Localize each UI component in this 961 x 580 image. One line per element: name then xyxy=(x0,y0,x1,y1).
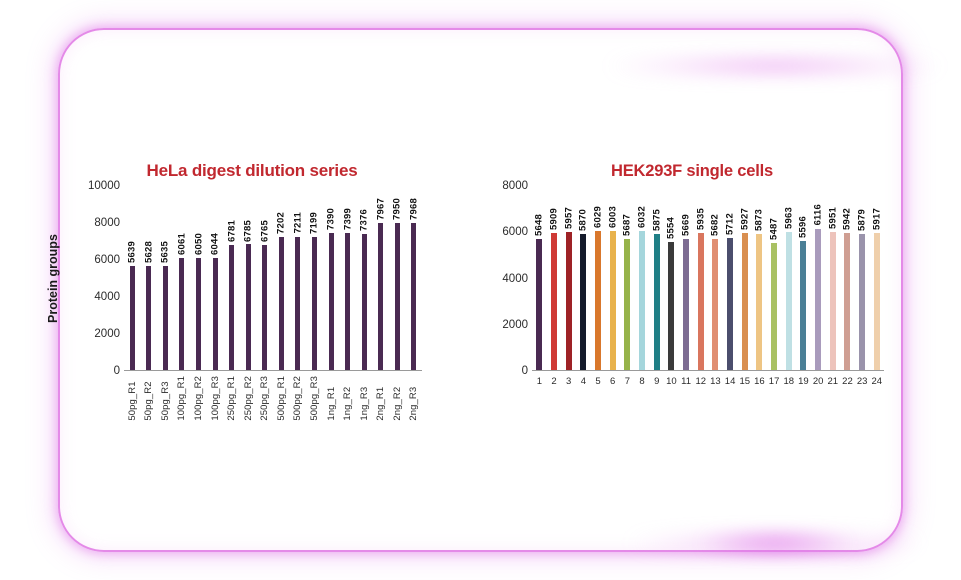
x-tick-label: 2 xyxy=(551,376,556,387)
x-label-slot: 1 xyxy=(532,376,547,387)
bar-slot[interactable]: 5951 xyxy=(825,186,840,370)
bar[interactable] xyxy=(213,258,218,370)
bar-value-label: 5879 xyxy=(857,209,868,231)
bar-value-label: 5963 xyxy=(783,207,794,229)
bar-slot[interactable]: 6116 xyxy=(811,186,826,370)
bar-slot[interactable]: 5942 xyxy=(840,186,855,370)
bar-value-label: 6061 xyxy=(176,233,187,255)
bar-value-label: 7968 xyxy=(408,198,419,220)
x-tick-label: 250pg_R1 xyxy=(226,376,237,421)
bar-value-label: 5873 xyxy=(754,209,765,231)
x-label-slot: 500pg_R3 xyxy=(306,376,323,421)
plot-area-hela: Protein groups 0200040006000800010000 56… xyxy=(52,186,452,431)
y-tick-label: 10000 xyxy=(88,180,120,192)
x-tick-label: 2ng_R3 xyxy=(408,376,419,421)
x-tick-label: 9 xyxy=(654,376,659,387)
bar-slot[interactable]: 5639 xyxy=(124,186,141,370)
x-label-slot: 250pg_R1 xyxy=(223,376,240,421)
bar[interactable] xyxy=(345,233,350,370)
bar-slot[interactable]: 6003 xyxy=(605,186,620,370)
slide-canvas: HeLa digest dilution series Protein grou… xyxy=(0,0,961,580)
bar-value-label: 5942 xyxy=(842,208,853,230)
glow-accent-top xyxy=(610,58,940,74)
bar[interactable] xyxy=(378,223,383,370)
chart-panel-hek: HEK293F single cells 02000400060008000 5… xyxy=(482,160,902,480)
bars-container-hek: 5648590959575870602960035687603258755554… xyxy=(532,186,884,371)
bar-slot[interactable]: 6765 xyxy=(257,186,274,370)
x-tick-label: 50pg_R3 xyxy=(160,376,171,421)
bar-slot[interactable]: 5669 xyxy=(679,186,694,370)
chart-title-hek: HEK293F single cells xyxy=(482,160,902,186)
x-label-slot: 16 xyxy=(752,376,767,387)
x-label-slot: 500pg_R2 xyxy=(290,376,307,421)
bar[interactable] xyxy=(742,233,748,370)
glow-accent-bottom-inner xyxy=(700,536,850,550)
bar-value-label: 5554 xyxy=(666,217,677,239)
x-tick-label: 1ng_R2 xyxy=(342,376,353,421)
x-label-slot: 5 xyxy=(591,376,606,387)
bar[interactable] xyxy=(683,239,689,370)
x-label-slot: 22 xyxy=(840,376,855,387)
x-label-slot: 19 xyxy=(796,376,811,387)
bar[interactable] xyxy=(756,234,762,370)
y-tick-label: 8000 xyxy=(94,217,120,229)
y-axis-label-hela: Protein groups xyxy=(46,234,60,323)
bar[interactable] xyxy=(130,266,135,370)
bar-value-label: 6116 xyxy=(813,204,824,225)
bar[interactable] xyxy=(295,237,300,370)
bar[interactable] xyxy=(229,245,234,370)
bar-slot[interactable]: 5628 xyxy=(141,186,158,370)
bar-slot[interactable]: 6029 xyxy=(591,186,606,370)
x-label-slot: 100pg_R3 xyxy=(207,376,224,421)
bar-slot[interactable]: 7950 xyxy=(389,186,406,370)
bar-value-label: 5909 xyxy=(549,208,560,230)
bar[interactable] xyxy=(639,231,645,370)
x-label-slot: 17 xyxy=(767,376,782,387)
y-tick-label: 2000 xyxy=(94,328,120,340)
x-tick-label: 5 xyxy=(595,376,600,387)
y-tick-label: 8000 xyxy=(502,180,528,192)
bar-value-label: 6765 xyxy=(259,220,270,242)
x-axis-labels-hek: 123456789101112131415161718192021222324 xyxy=(532,376,884,387)
bar-slot[interactable]: 5875 xyxy=(649,186,664,370)
bar-value-label: 6785 xyxy=(243,220,254,242)
bar-slot[interactable]: 7399 xyxy=(339,186,356,370)
y-axis-ticks-hek: 02000400060008000 xyxy=(486,186,532,371)
x-label-slot: 2ng_R1 xyxy=(372,376,389,421)
x-tick-label: 500pg_R1 xyxy=(276,376,287,421)
bar-value-label: 7390 xyxy=(326,208,337,230)
x-label-slot: 500pg_R1 xyxy=(273,376,290,421)
x-label-slot: 24 xyxy=(869,376,884,387)
bar-slot[interactable]: 7968 xyxy=(406,186,423,370)
x-tick-label: 250pg_R2 xyxy=(243,376,254,421)
x-tick-label: 7 xyxy=(625,376,630,387)
bar-slot[interactable]: 5957 xyxy=(561,186,576,370)
x-tick-label: 16 xyxy=(754,376,765,387)
bar[interactable] xyxy=(279,237,284,370)
x-tick-label: 50pg_R2 xyxy=(143,376,154,421)
y-tick-label: 4000 xyxy=(502,273,528,285)
bar-value-label: 5639 xyxy=(127,241,138,263)
plot-area-hek: 02000400060008000 5648590959575870602960… xyxy=(482,186,902,401)
x-label-slot: 2ng_R2 xyxy=(389,376,406,421)
y-tick-label: 6000 xyxy=(94,254,120,266)
bar-slot[interactable]: 6785 xyxy=(240,186,257,370)
y-axis-ticks-hela: 0200040006000800010000 xyxy=(78,186,124,371)
bar[interactable] xyxy=(411,223,416,370)
bar[interactable] xyxy=(362,234,367,370)
bar[interactable] xyxy=(859,234,865,370)
bar-slot[interactable]: 6044 xyxy=(207,186,224,370)
x-tick-label: 500pg_R3 xyxy=(309,376,320,421)
bar[interactable] xyxy=(712,239,718,370)
x-tick-label: 1ng_R3 xyxy=(359,376,370,421)
x-tick-label: 2ng_R2 xyxy=(392,376,403,421)
bar[interactable] xyxy=(727,238,733,370)
bar-value-label: 5712 xyxy=(725,213,736,235)
x-tick-label: 13 xyxy=(710,376,721,387)
bar[interactable] xyxy=(610,231,616,370)
bar[interactable] xyxy=(395,223,400,370)
y-tick-label: 2000 xyxy=(502,319,528,331)
x-label-slot: 7 xyxy=(620,376,635,387)
bar-value-label: 5935 xyxy=(695,208,706,230)
x-label-slot: 50pg_R1 xyxy=(124,376,141,421)
bar-value-label: 7199 xyxy=(309,212,320,234)
bar-value-label: 6044 xyxy=(210,233,221,255)
y-tick-label: 6000 xyxy=(502,226,528,238)
x-label-slot: 250pg_R2 xyxy=(240,376,257,421)
x-tick-label: 10 xyxy=(666,376,677,387)
bar-value-label: 5957 xyxy=(563,207,574,229)
x-label-slot: 2ng_R3 xyxy=(406,376,423,421)
x-label-slot: 12 xyxy=(693,376,708,387)
bar[interactable] xyxy=(312,237,317,370)
bar[interactable] xyxy=(771,243,777,370)
bar[interactable] xyxy=(595,231,601,370)
bar-value-label: 7202 xyxy=(276,212,287,234)
bar[interactable] xyxy=(146,266,151,370)
x-label-slot: 50pg_R2 xyxy=(141,376,158,421)
bar-slot[interactable]: 5909 xyxy=(547,186,562,370)
bar[interactable] xyxy=(830,232,836,370)
bar-value-label: 5487 xyxy=(769,218,780,240)
x-tick-label: 15 xyxy=(739,376,750,387)
bar[interactable] xyxy=(196,258,201,370)
bar-value-label: 7399 xyxy=(342,208,353,230)
bar[interactable] xyxy=(668,242,674,370)
x-tick-label: 100pg_R1 xyxy=(176,376,187,421)
x-label-slot: 6 xyxy=(605,376,620,387)
bar-slot[interactable]: 5487 xyxy=(767,186,782,370)
x-label-slot: 14 xyxy=(723,376,738,387)
bar-value-label: 7967 xyxy=(375,198,386,220)
bar[interactable] xyxy=(179,258,184,370)
bar[interactable] xyxy=(844,233,850,370)
bar-value-label: 7211 xyxy=(292,212,303,233)
bar-slot[interactable]: 5648 xyxy=(532,186,547,370)
x-tick-label: 24 xyxy=(872,376,883,387)
x-tick-label: 22 xyxy=(842,376,853,387)
bar-slot[interactable]: 7199 xyxy=(306,186,323,370)
bar-slot[interactable]: 6781 xyxy=(223,186,240,370)
x-tick-label: 6 xyxy=(610,376,615,387)
x-label-slot: 1ng_R2 xyxy=(339,376,356,421)
bar-value-label: 6050 xyxy=(193,233,204,255)
bar-value-label: 6032 xyxy=(637,206,648,228)
x-tick-label: 12 xyxy=(695,376,706,387)
x-tick-label: 3 xyxy=(566,376,571,387)
x-tick-label: 20 xyxy=(813,376,824,387)
bar-slot[interactable]: 5935 xyxy=(693,186,708,370)
bar-slot[interactable]: 5687 xyxy=(620,186,635,370)
x-label-slot: 100pg_R2 xyxy=(190,376,207,421)
bar-value-label: 5917 xyxy=(871,208,882,230)
x-tick-label: 11 xyxy=(681,376,691,387)
glow-accent-bottom xyxy=(630,534,920,552)
x-label-slot: 8 xyxy=(635,376,650,387)
x-label-slot: 250pg_R3 xyxy=(257,376,274,421)
x-label-slot: 1ng_R1 xyxy=(323,376,340,421)
bar-value-label: 5596 xyxy=(798,216,809,238)
bar-slot[interactable]: 5873 xyxy=(752,186,767,370)
bar[interactable] xyxy=(874,233,880,370)
x-tick-label: 1 xyxy=(537,376,542,387)
bar-value-label: 5669 xyxy=(681,214,692,236)
bar-value-label: 5927 xyxy=(739,208,750,230)
x-tick-label: 50pg_R1 xyxy=(127,376,138,421)
x-label-slot: 10 xyxy=(664,376,679,387)
bars-container-hela: 5639562856356061605060446781678567657202… xyxy=(124,186,422,371)
bar-value-label: 5635 xyxy=(160,241,171,263)
bar-value-label: 5870 xyxy=(578,209,589,231)
bar-value-label: 5648 xyxy=(534,214,545,236)
bar-value-label: 5875 xyxy=(651,209,662,231)
x-tick-label: 23 xyxy=(857,376,868,387)
bar[interactable] xyxy=(624,239,630,371)
bar[interactable] xyxy=(815,229,821,370)
chart-panel-hela: HeLa digest dilution series Protein grou… xyxy=(52,160,452,480)
bar-slot[interactable]: 7967 xyxy=(372,186,389,370)
bar-slot[interactable]: 5635 xyxy=(157,186,174,370)
bar[interactable] xyxy=(262,245,267,370)
bar-value-label: 5628 xyxy=(143,241,154,263)
bar-slot[interactable]: 5879 xyxy=(855,186,870,370)
x-tick-label: 4 xyxy=(581,376,586,387)
x-tick-label: 100pg_R2 xyxy=(193,376,204,421)
x-tick-label: 500pg_R2 xyxy=(292,376,303,421)
x-tick-label: 21 xyxy=(827,376,838,387)
bar-slot[interactable]: 7376 xyxy=(356,186,373,370)
x-label-slot: 100pg_R1 xyxy=(174,376,191,421)
bar-slot[interactable]: 5554 xyxy=(664,186,679,370)
bar-slot[interactable]: 5596 xyxy=(796,186,811,370)
bar[interactable] xyxy=(800,241,806,370)
x-tick-label: 17 xyxy=(769,376,780,387)
x-label-slot: 15 xyxy=(737,376,752,387)
x-tick-label: 8 xyxy=(639,376,644,387)
bar[interactable] xyxy=(786,232,792,370)
y-tick-label: 0 xyxy=(522,365,528,377)
bar[interactable] xyxy=(329,233,334,370)
x-tick-label: 100pg_R3 xyxy=(210,376,221,421)
x-tick-label: 14 xyxy=(725,376,736,387)
x-label-slot: 13 xyxy=(708,376,723,387)
bar[interactable] xyxy=(163,266,168,370)
x-tick-label: 2ng_R1 xyxy=(375,376,386,421)
x-label-slot: 50pg_R3 xyxy=(157,376,174,421)
bar-slot[interactable]: 5963 xyxy=(781,186,796,370)
x-label-slot: 1ng_R3 xyxy=(356,376,373,421)
x-tick-label: 1ng_R1 xyxy=(326,376,337,421)
bar-slot[interactable]: 5712 xyxy=(723,186,738,370)
bar-value-label: 5682 xyxy=(710,214,721,236)
bar-slot[interactable]: 5682 xyxy=(708,186,723,370)
bar[interactable] xyxy=(536,239,542,370)
bar-value-label: 6781 xyxy=(226,220,237,242)
bar-slot[interactable]: 6050 xyxy=(190,186,207,370)
bar-value-label: 7950 xyxy=(392,198,403,220)
bar[interactable] xyxy=(654,234,660,370)
x-label-slot: 4 xyxy=(576,376,591,387)
x-tick-label: 250pg_R3 xyxy=(259,376,270,421)
bar-slot[interactable]: 5917 xyxy=(869,186,884,370)
y-tick-label: 0 xyxy=(114,365,120,377)
bar-value-label: 5951 xyxy=(827,207,838,229)
bar[interactable] xyxy=(580,234,586,370)
bar-value-label: 7376 xyxy=(359,209,370,231)
bar-slot[interactable]: 5870 xyxy=(576,186,591,370)
bar[interactable] xyxy=(566,232,572,370)
bar[interactable] xyxy=(698,233,704,370)
x-label-slot: 20 xyxy=(811,376,826,387)
bar-slot[interactable]: 6061 xyxy=(174,186,191,370)
bar-slot[interactable]: 7202 xyxy=(273,186,290,370)
x-label-slot: 23 xyxy=(855,376,870,387)
bar-value-label: 5687 xyxy=(622,214,633,236)
x-label-slot: 3 xyxy=(561,376,576,387)
x-tick-label: 19 xyxy=(798,376,809,387)
bar-slot[interactable]: 7390 xyxy=(323,186,340,370)
x-label-slot: 2 xyxy=(547,376,562,387)
x-label-slot: 18 xyxy=(781,376,796,387)
x-label-slot: 11 xyxy=(679,376,694,387)
x-label-slot: 9 xyxy=(649,376,664,387)
bar-value-label: 6029 xyxy=(593,206,604,228)
bar-value-label: 6003 xyxy=(607,206,618,228)
y-tick-label: 4000 xyxy=(94,291,120,303)
bar-slot[interactable]: 7211 xyxy=(290,186,307,370)
x-label-slot: 21 xyxy=(825,376,840,387)
bar-slot[interactable]: 5927 xyxy=(737,186,752,370)
bar[interactable] xyxy=(551,233,557,370)
x-tick-label: 18 xyxy=(783,376,794,387)
bar[interactable] xyxy=(246,244,251,370)
bar-slot[interactable]: 6032 xyxy=(635,186,650,370)
x-axis-labels-hela: 50pg_R150pg_R250pg_R3100pg_R1100pg_R2100… xyxy=(124,376,422,421)
